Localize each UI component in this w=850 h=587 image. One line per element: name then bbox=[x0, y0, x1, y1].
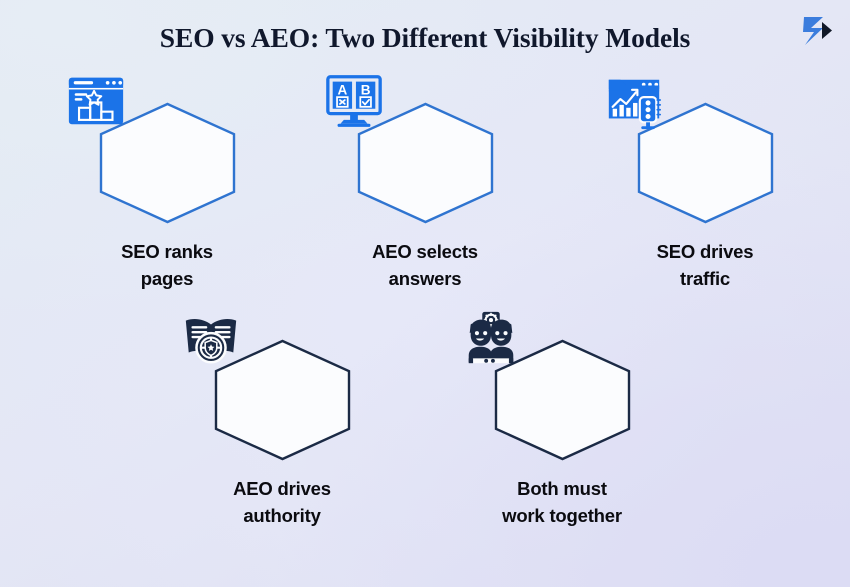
hexagon-seo-ranks-pages bbox=[96, 101, 239, 225]
node-label-line1: AEO drives bbox=[194, 475, 370, 502]
teamwork-people-gear-icon bbox=[460, 307, 522, 369]
node-label: AEO drives authority bbox=[194, 475, 370, 529]
node-both-must-work-together[interactable]: Both must work together bbox=[474, 338, 650, 529]
book-shield-badge-icon bbox=[180, 307, 242, 369]
node-label-line2: pages bbox=[79, 265, 255, 292]
svg-text:B: B bbox=[360, 83, 370, 98]
node-label: SEO ranks pages bbox=[79, 238, 255, 292]
node-label-line2: authority bbox=[194, 502, 370, 529]
node-label-line2: work together bbox=[474, 502, 650, 529]
node-label-line1: AEO selects bbox=[337, 238, 513, 265]
node-label-line1: Both must bbox=[474, 475, 650, 502]
hexagon-aeo-selects-answers: A B bbox=[354, 101, 497, 225]
node-label-line1: SEO ranks bbox=[79, 238, 255, 265]
hexagon-seo-drives-traffic bbox=[634, 101, 777, 225]
node-label: SEO drives traffic bbox=[617, 238, 793, 292]
hexagon-aeo-drives-authority bbox=[211, 338, 354, 462]
slide-canvas: SEO vs AEO: Two Different Visibility Mod… bbox=[0, 0, 850, 587]
svg-text:A: A bbox=[337, 83, 347, 98]
node-seo-ranks-pages[interactable]: SEO ranks pages bbox=[79, 101, 255, 292]
node-label-line2: answers bbox=[337, 265, 513, 292]
node-label: AEO selects answers bbox=[337, 238, 513, 292]
browser-ranking-chart-icon bbox=[65, 70, 127, 132]
ab-test-monitor-icon: A B bbox=[323, 70, 385, 132]
hexagon-both-must-work-together bbox=[491, 338, 634, 462]
node-label-line1: SEO drives bbox=[617, 238, 793, 265]
node-aeo-drives-authority[interactable]: AEO drives authority bbox=[194, 338, 370, 529]
node-seo-drives-traffic[interactable]: SEO drives traffic bbox=[617, 101, 793, 292]
analytics-traffic-light-icon bbox=[603, 70, 665, 132]
node-label-line2: traffic bbox=[617, 265, 793, 292]
node-label: Both must work together bbox=[474, 475, 650, 529]
page-title: SEO vs AEO: Two Different Visibility Mod… bbox=[0, 22, 850, 54]
node-aeo-selects-answers[interactable]: A B AEO selects answers bbox=[337, 101, 513, 292]
